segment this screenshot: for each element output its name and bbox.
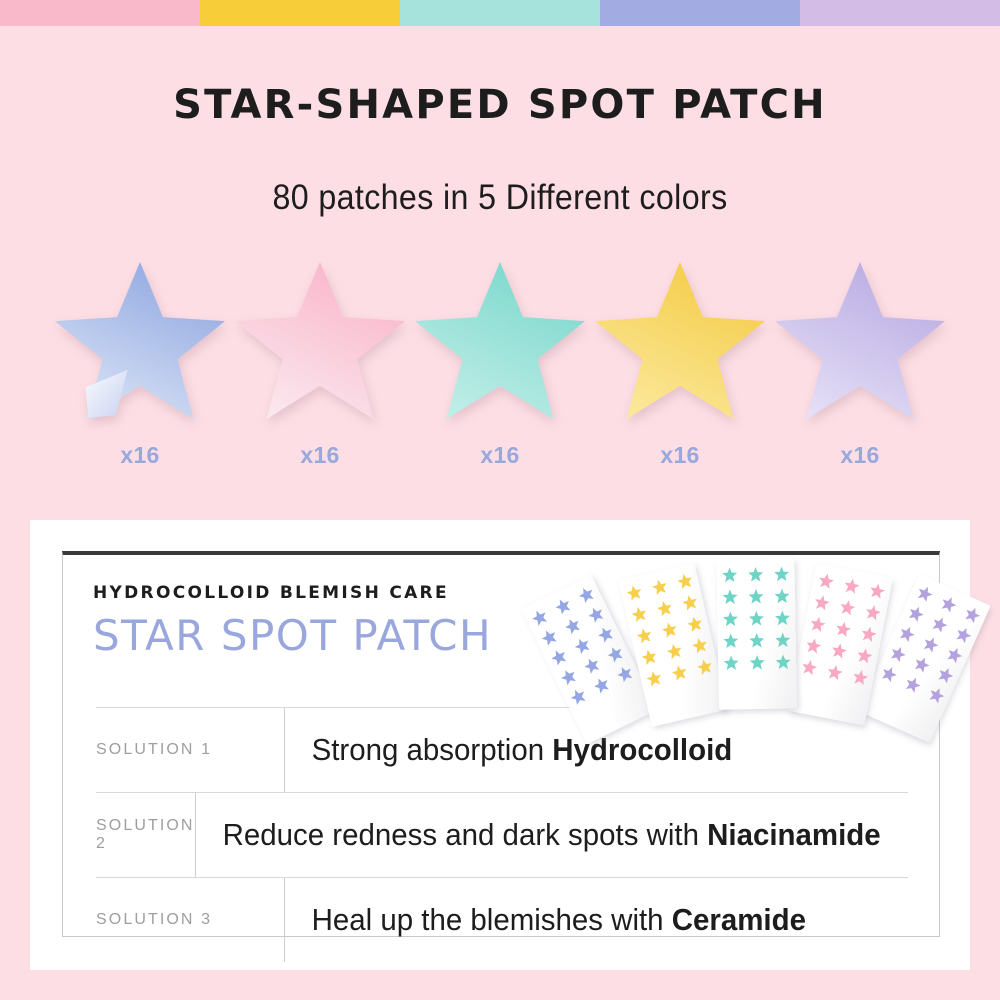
brand-block: HYDROCOLLOID BLEMISH CARE STAR SPOT PATC… <box>93 583 492 660</box>
mini-star-icon <box>834 620 852 638</box>
mini-star-icon <box>625 584 643 602</box>
solution-label: SOLUTION 3 <box>96 878 285 962</box>
sheet-star-row <box>717 610 795 626</box>
yellow-star-icon <box>595 262 765 424</box>
mini-star-icon <box>963 605 983 625</box>
mini-star-icon <box>927 685 947 705</box>
star-swatch-mint-star: x16 <box>410 262 590 477</box>
mini-star-icon <box>830 642 848 660</box>
mini-star-icon <box>559 667 579 687</box>
color-stripe-mint <box>400 0 600 26</box>
mini-star-icon <box>852 669 870 687</box>
star-count-label: x16 <box>300 442 339 469</box>
page-title: STAR-SHAPED SPOT PATCH <box>0 82 1000 128</box>
mini-star-icon <box>776 654 791 669</box>
solution-ingredient: Niacinamide <box>707 817 880 852</box>
mini-star-icon <box>605 644 625 664</box>
mini-star-icon <box>722 567 737 582</box>
mini-star-icon <box>774 588 789 603</box>
mini-star-icon <box>748 567 763 582</box>
star-count-label: x16 <box>120 442 159 469</box>
mini-star-icon <box>553 596 573 616</box>
star-count-label: x16 <box>840 442 879 469</box>
star-swatch-yellow-star: x16 <box>590 262 770 477</box>
page-subtitle: 80 patches in 5 Different colors <box>40 178 960 218</box>
color-stripe-yellow <box>200 0 400 26</box>
mini-star-icon <box>915 584 935 604</box>
solution-row: SOLUTION 3Heal up the blemishes with Cer… <box>96 877 908 962</box>
mini-star-icon <box>749 611 764 626</box>
mini-star-icon <box>748 589 763 604</box>
info-card: HYDROCOLLOID BLEMISH CARE STAR SPOT PATC… <box>30 520 970 970</box>
pink-star-icon <box>235 262 405 424</box>
mini-star-icon <box>596 624 616 644</box>
solution-label: SOLUTION 2 <box>96 793 196 877</box>
color-stripe-pink <box>0 0 200 26</box>
mini-star-icon <box>888 644 908 664</box>
mini-star-icon <box>530 607 550 627</box>
mini-star-icon <box>879 664 899 684</box>
star-swatch-lavender-star: x16 <box>770 262 950 477</box>
mini-star-icon <box>640 648 658 666</box>
mini-star-icon <box>939 594 959 614</box>
lavender-star-icon <box>775 262 945 424</box>
solution-row: SOLUTION 1Strong absorption Hydrocolloid <box>96 707 908 792</box>
mini-star-icon <box>563 616 583 636</box>
mini-star-icon <box>775 610 790 625</box>
mini-star-icon <box>817 572 835 590</box>
mini-star-icon <box>676 572 694 590</box>
mini-star-icon <box>576 585 596 605</box>
mini-star-icon <box>930 614 950 634</box>
solution-text: Strong absorption Hydrocolloid <box>285 732 732 768</box>
solution-list: SOLUTION 1Strong absorption Hydrocolloid… <box>96 707 908 962</box>
mini-star-icon <box>645 670 663 688</box>
mini-star-icon <box>724 655 739 670</box>
mini-star-icon <box>809 615 827 633</box>
mini-star-icon <box>903 675 923 695</box>
star-count-label: x16 <box>480 442 519 469</box>
mini-star-icon <box>839 599 857 617</box>
mini-star-icon <box>774 566 789 581</box>
mini-star-icon <box>656 599 674 617</box>
mini-star-icon <box>671 664 689 682</box>
star-count-label: x16 <box>660 442 699 469</box>
mini-star-icon <box>630 605 648 623</box>
mini-star-icon <box>686 615 704 633</box>
color-stripe-lavender <box>800 0 1000 26</box>
solution-row: SOLUTION 2Reduce redness and dark spots … <box>96 792 908 877</box>
sheet-mint <box>716 558 797 709</box>
mini-star-icon <box>691 636 709 654</box>
brand-kicker: HYDROCOLLOID BLEMISH CARE <box>93 583 492 603</box>
mini-star-icon <box>572 636 592 656</box>
solution-ingredient: Ceramide <box>672 902 806 937</box>
mini-star-icon <box>897 624 917 644</box>
patch-sheet-fan-image <box>583 545 1000 735</box>
mini-star-icon <box>539 627 559 647</box>
mini-star-icon <box>635 627 653 645</box>
mini-star-icon <box>826 664 844 682</box>
mini-star-icon <box>750 655 765 670</box>
mint-star-icon <box>415 262 585 424</box>
blue-star-icon <box>55 262 225 424</box>
brand-name: STAR SPOT PATCH <box>93 611 492 660</box>
mini-star-icon <box>864 604 882 622</box>
solution-label: SOLUTION 1 <box>96 708 285 792</box>
mini-star-icon <box>722 589 737 604</box>
star-swatch-pink-star: x16 <box>230 262 410 477</box>
mini-star-icon <box>860 625 878 643</box>
mini-star-icon <box>749 633 764 648</box>
mini-star-icon <box>723 611 738 626</box>
mini-star-icon <box>813 594 831 612</box>
sheet-star-row <box>717 588 795 604</box>
mini-star-icon <box>586 604 606 624</box>
mini-star-icon <box>696 658 714 676</box>
mini-star-icon <box>681 594 699 612</box>
mini-star-icon <box>568 687 588 707</box>
mini-star-icon <box>592 675 612 695</box>
mini-star-icon <box>843 577 861 595</box>
solution-ingredient: Hydrocolloid <box>552 732 732 767</box>
mini-star-icon <box>661 621 679 639</box>
mini-star-icon <box>912 655 932 675</box>
mini-star-icon <box>906 604 926 624</box>
mini-star-icon <box>723 633 738 648</box>
color-stripe-bar <box>0 0 1000 26</box>
mini-star-icon <box>936 665 956 685</box>
mini-star-icon <box>954 625 974 645</box>
solution-text: Heal up the blemishes with Ceramide <box>285 902 806 938</box>
color-stripe-periwinkle <box>600 0 800 26</box>
mini-star-icon <box>801 659 819 677</box>
mini-star-icon <box>615 664 635 684</box>
mini-star-icon <box>582 655 602 675</box>
info-card-frame: HYDROCOLLOID BLEMISH CARE STAR SPOT PATC… <box>62 551 940 937</box>
star-swatch-blue-star: x16 <box>50 262 230 477</box>
star-swatch-row: x16x16x16x16x16 <box>50 262 950 477</box>
sheet-star-row <box>717 566 795 582</box>
mini-star-icon <box>775 632 790 647</box>
mini-star-icon <box>856 647 874 665</box>
mini-star-icon <box>868 582 886 600</box>
mini-star-icon <box>549 647 569 667</box>
mini-star-icon <box>666 642 684 660</box>
sheet-star-row <box>718 632 796 648</box>
mini-star-icon <box>651 578 669 596</box>
sheet-star-row <box>718 654 796 670</box>
mini-star-icon <box>945 645 965 665</box>
solution-text: Reduce redness and dark spots with Niaci… <box>196 817 881 853</box>
mini-star-icon <box>921 634 941 654</box>
mini-star-icon <box>805 637 823 655</box>
